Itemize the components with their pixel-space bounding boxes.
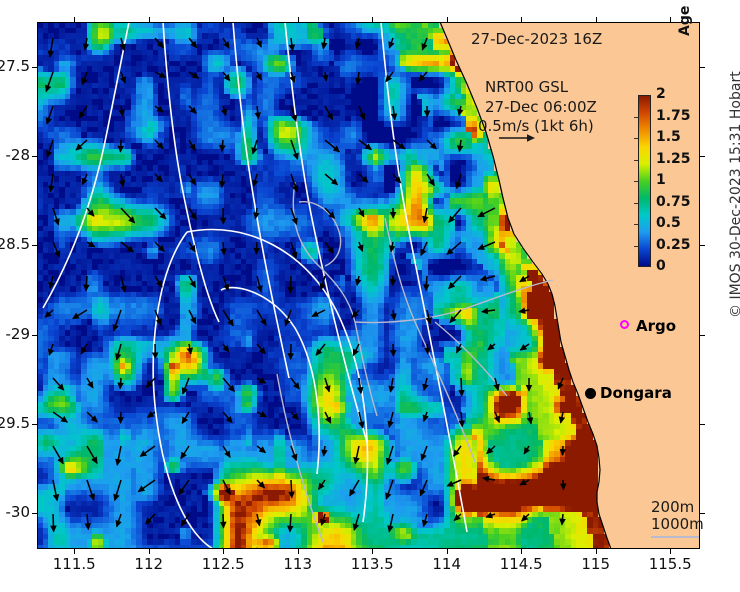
x-tick-top — [149, 17, 150, 22]
current-vector — [559, 548, 563, 549]
x-tick-label: 113 — [258, 555, 338, 573]
x-tick-top — [74, 17, 75, 22]
current-vector — [325, 548, 327, 549]
current-vector — [325, 140, 339, 152]
colorbar-tick — [634, 224, 638, 225]
current-vector — [393, 310, 394, 320]
y-tick-right — [700, 245, 705, 246]
x-tick-top — [223, 17, 224, 22]
current-vector — [222, 140, 223, 151]
product-line-1: NRT00 GSL — [485, 78, 568, 96]
y-tick-right — [700, 156, 705, 157]
current-vector — [121, 242, 134, 252]
current-vector — [121, 106, 123, 116]
current-vector — [257, 38, 261, 47]
argo-label: Argo — [636, 317, 676, 335]
current-vector — [426, 276, 427, 290]
x-tick — [372, 549, 373, 554]
current-vector — [420, 480, 427, 496]
current-vector — [121, 208, 135, 223]
current-vector — [520, 344, 529, 350]
current-vector — [389, 412, 393, 427]
current-vector — [352, 310, 359, 317]
current-vector — [524, 446, 529, 454]
current-vector — [120, 412, 121, 423]
current-vector — [359, 106, 364, 120]
current-vector — [290, 276, 291, 293]
current-vector — [487, 446, 495, 454]
x-tick-label: 112 — [109, 555, 189, 573]
current-vector — [257, 344, 265, 354]
colorbar-tick — [634, 181, 638, 182]
y-tick-label: -28 — [0, 146, 30, 164]
current-vector — [117, 548, 121, 549]
bathymetry-contour — [355, 280, 553, 322]
current-vector — [391, 378, 394, 392]
current-vector — [257, 412, 266, 417]
current-vector — [427, 140, 436, 149]
bathymetry-contour — [43, 22, 129, 308]
argo-marker-icon — [620, 320, 629, 329]
current-vector — [140, 446, 155, 456]
current-vector — [257, 310, 266, 325]
current-vector — [223, 412, 232, 423]
current-vector — [325, 208, 335, 218]
current-vector — [488, 344, 495, 350]
current-vector — [181, 446, 189, 459]
colorbar-tick-label: 2 — [656, 86, 666, 102]
y-tick — [32, 245, 37, 246]
map-overlays — [37, 22, 700, 549]
y-tick — [32, 156, 37, 157]
credit-text: © IMOS 30-Dec-2023 15:31 Hobart — [728, 38, 740, 318]
current-vector — [563, 446, 564, 455]
colorbar-tick — [634, 203, 638, 204]
current-vector — [184, 548, 190, 549]
current-vector — [529, 412, 531, 424]
current-vector — [223, 378, 234, 391]
current-vector — [117, 514, 121, 527]
current-vector — [87, 514, 88, 529]
current-vector — [291, 378, 299, 389]
current-vector — [120, 140, 121, 152]
current-vector — [325, 412, 331, 423]
x-tick — [74, 549, 75, 554]
current-vector — [359, 140, 371, 150]
current-vector — [223, 480, 230, 494]
product-line-2: 27-Dec 06:00Z — [485, 98, 597, 116]
current-vector — [85, 38, 87, 50]
current-vector — [189, 72, 199, 78]
current-vector — [183, 378, 189, 394]
current-vector — [353, 344, 359, 355]
current-vector — [155, 276, 162, 287]
current-vector — [324, 446, 325, 456]
current-vector — [87, 412, 97, 422]
y-tick-label: -30 — [0, 503, 30, 521]
current-vector — [76, 140, 87, 150]
current-vector — [355, 446, 359, 464]
current-vector — [481, 276, 495, 280]
current-vector — [223, 242, 224, 255]
current-vector — [121, 72, 125, 83]
current-vector — [454, 514, 461, 521]
current-vector — [257, 106, 258, 119]
current-vector — [254, 174, 257, 186]
current-vector — [155, 174, 162, 182]
dongara-label: Dongara — [600, 384, 672, 402]
x-tick-label: 111.5 — [34, 555, 114, 573]
dongara-marker-icon — [585, 388, 596, 399]
current-vector — [121, 174, 123, 187]
bathymetry-contour — [293, 182, 377, 416]
x-tick — [298, 549, 299, 554]
current-vector — [216, 548, 223, 549]
current-vector — [323, 38, 325, 49]
x-tick-label: 114 — [407, 555, 487, 573]
current-vector — [359, 412, 363, 428]
velocity-reference-arrow — [497, 131, 537, 145]
current-vector — [117, 446, 121, 465]
x-tick — [149, 549, 150, 554]
current-vector — [478, 208, 495, 217]
colorbar-tick-label: 1 — [656, 172, 666, 188]
current-vector — [350, 480, 359, 496]
y-tick-right — [700, 424, 705, 425]
current-vector — [483, 478, 495, 480]
depth-label-200m: 200m — [651, 498, 694, 516]
x-tick-label: 112.5 — [183, 555, 263, 573]
bathymetry-contour — [163, 22, 219, 322]
current-vector — [447, 242, 461, 254]
current-vector — [46, 72, 53, 91]
current-vector — [359, 242, 362, 251]
current-vector — [49, 344, 53, 355]
current-vector — [257, 72, 261, 80]
current-vector — [86, 276, 87, 291]
bathymetry-contour — [277, 374, 323, 542]
bathymetry-contour — [233, 22, 289, 378]
current-vector — [87, 378, 93, 388]
current-vector — [291, 412, 298, 419]
colorbar-tick-label: 0.25 — [656, 237, 691, 253]
x-tick — [521, 549, 522, 554]
current-vector — [325, 72, 326, 81]
current-vector — [83, 72, 87, 84]
current-vector — [256, 242, 257, 254]
current-vector — [87, 242, 95, 247]
current-vector — [457, 344, 461, 353]
current-vector — [312, 310, 325, 316]
current-vector — [486, 514, 495, 517]
current-vector — [454, 446, 461, 456]
map-plot-area[interactable] — [37, 22, 700, 549]
current-vector — [427, 174, 434, 186]
current-vector — [519, 310, 529, 312]
current-vector — [424, 514, 428, 526]
depth-scale-rule — [651, 536, 699, 538]
current-vector — [155, 38, 163, 48]
current-vector — [50, 276, 53, 288]
y-tick-label: -29.5 — [0, 414, 30, 432]
current-vector — [257, 480, 265, 488]
current-vector — [73, 310, 87, 319]
current-vector — [223, 344, 229, 352]
current-vector — [249, 548, 257, 549]
current-vector — [182, 412, 189, 423]
current-vector — [526, 548, 530, 549]
current-vector — [84, 548, 87, 549]
current-vector — [290, 514, 291, 532]
current-vector — [155, 242, 164, 251]
current-vector — [53, 378, 64, 390]
current-vector — [257, 276, 261, 292]
colorbar-tick-label: 0 — [656, 258, 666, 274]
current-vector — [357, 276, 359, 285]
current-vector — [53, 412, 67, 422]
x-tick-top — [596, 17, 597, 22]
current-vector — [461, 412, 462, 427]
current-vector — [287, 548, 291, 549]
current-vector — [53, 208, 58, 225]
current-vector — [291, 140, 298, 159]
current-vector — [146, 514, 155, 524]
colorbar-tick-label: 1.25 — [656, 151, 691, 167]
colorbar-tick-label: 1.75 — [656, 108, 691, 124]
x-tick-top — [521, 17, 522, 22]
current-vector — [53, 514, 54, 532]
colorbar-tick-label: 1.5 — [656, 129, 681, 145]
current-vector — [325, 242, 333, 253]
colorbar-tick-label: 0.5 — [656, 215, 681, 231]
colorbar-title: Age (days) of filled SST (wrt latest) — [677, 0, 693, 36]
x-tick-label: 113.5 — [332, 555, 412, 573]
current-vector — [223, 310, 233, 326]
colorbar-tick — [634, 138, 638, 139]
current-vector — [189, 174, 196, 185]
current-vector — [47, 106, 53, 124]
y-tick-label: -27.5 — [0, 57, 30, 75]
y-tick — [32, 335, 37, 336]
current-vector — [189, 106, 196, 113]
current-vector — [87, 480, 94, 500]
current-vector — [478, 242, 495, 249]
current-vector — [424, 208, 427, 222]
current-vector — [155, 140, 163, 149]
current-vector — [495, 412, 499, 422]
current-vector — [386, 480, 393, 499]
current-vector — [558, 378, 563, 389]
current-vector — [257, 446, 265, 453]
current-vector — [457, 174, 461, 188]
current-vector — [291, 38, 293, 51]
current-vector — [138, 480, 155, 492]
current-vector — [189, 38, 197, 48]
current-vector — [189, 310, 196, 324]
current-vector — [426, 548, 427, 549]
current-vector — [325, 106, 333, 120]
y-tick — [32, 513, 37, 514]
x-tick-top — [447, 17, 448, 22]
current-vector — [359, 208, 364, 217]
x-tick-label: 115.5 — [630, 555, 710, 573]
current-vector — [189, 344, 191, 354]
current-vector — [482, 310, 495, 312]
current-vector — [50, 174, 53, 192]
y-tick-label: -29 — [0, 325, 30, 343]
current-vector — [520, 480, 529, 485]
colorbar-tick — [634, 160, 638, 161]
current-vector — [424, 412, 427, 421]
y-tick-label: -28.5 — [0, 235, 30, 253]
current-vector — [421, 242, 427, 255]
current-vector — [155, 208, 166, 219]
current-vector — [155, 106, 163, 112]
current-vector — [53, 242, 60, 257]
current-vector — [459, 140, 461, 152]
current-vector — [257, 378, 266, 383]
current-vector — [121, 38, 124, 50]
x-tick-top — [670, 17, 671, 22]
colorbar-tick-label: 0.75 — [656, 194, 691, 210]
bathymetry-contour — [221, 288, 319, 474]
current-vector — [316, 344, 325, 355]
current-vector — [520, 276, 529, 282]
current-vector — [53, 446, 63, 464]
current-vector — [189, 140, 195, 150]
current-vector — [354, 514, 359, 530]
current-vector — [223, 106, 226, 115]
current-vector — [81, 344, 87, 354]
current-vector — [325, 174, 338, 185]
current-vector — [87, 446, 97, 463]
current-vector — [222, 174, 223, 187]
current-vector — [449, 208, 461, 222]
current-vector — [458, 548, 461, 549]
current-vector — [117, 344, 121, 360]
current-vector — [151, 548, 155, 549]
current-vector — [121, 276, 125, 292]
current-vector — [155, 72, 166, 77]
current-vector — [562, 514, 563, 525]
x-tick — [670, 549, 671, 554]
current-vector — [359, 378, 361, 393]
current-vector — [120, 378, 121, 389]
current-vector — [358, 72, 359, 84]
current-vector — [53, 480, 57, 501]
current-vector — [319, 480, 325, 489]
current-vector — [50, 548, 53, 549]
colorbar — [638, 95, 651, 267]
current-vector — [257, 514, 260, 526]
current-vector — [389, 38, 393, 48]
y-tick-right — [700, 67, 705, 68]
current-vector — [422, 446, 428, 460]
current-vector — [522, 514, 529, 521]
x-tick-top — [372, 17, 373, 22]
current-vector — [291, 480, 292, 498]
current-vector — [223, 514, 224, 528]
current-vector — [424, 378, 427, 390]
depth-label-1000m: 1000m — [651, 515, 704, 533]
current-vector — [189, 276, 195, 287]
colorbar-tick — [634, 246, 638, 247]
current-vector — [491, 548, 495, 549]
colorbar-tick — [634, 117, 638, 118]
y-tick-right — [700, 335, 705, 336]
current-vector — [114, 310, 121, 331]
current-vector — [322, 514, 326, 525]
current-vector — [563, 480, 564, 490]
imos-sst-age-map: 27-Dec-2023 16Z NRT00 GSL 27-Dec 06:00Z … — [0, 0, 740, 592]
current-vector — [82, 174, 87, 184]
current-vector — [223, 38, 229, 48]
current-vector — [561, 412, 563, 423]
timestamp-label: 27-Dec-2023 16Z — [471, 30, 602, 48]
current-vector — [325, 378, 329, 392]
current-vector — [419, 72, 427, 81]
current-vector — [461, 378, 462, 396]
current-vector — [422, 38, 427, 50]
current-vector — [47, 140, 53, 157]
x-tick-label: 115 — [556, 555, 636, 573]
current-vector — [393, 106, 395, 120]
y-tick — [32, 424, 37, 425]
x-tick — [447, 549, 448, 554]
current-vector — [459, 106, 461, 115]
y-tick-right — [700, 513, 705, 514]
current-vector — [45, 310, 53, 317]
x-tick-label: 114.5 — [481, 555, 561, 573]
current-vector — [387, 446, 393, 464]
current-vector — [449, 276, 461, 289]
current-vector — [115, 480, 121, 500]
current-vector — [253, 140, 257, 154]
current-vector — [389, 514, 393, 532]
current-vector — [148, 412, 155, 417]
current-vector — [179, 480, 189, 495]
current-vector — [79, 106, 87, 118]
current-vector — [285, 310, 291, 326]
x-tick — [223, 549, 224, 554]
current-vector — [359, 174, 368, 182]
current-vector — [357, 38, 360, 48]
current-vector — [223, 72, 230, 81]
current-vector — [50, 38, 53, 57]
y-tick — [32, 67, 37, 68]
current-vector — [87, 208, 94, 216]
current-vector — [189, 208, 196, 220]
current-vector — [359, 548, 361, 549]
x-tick — [596, 549, 597, 554]
current-vector — [223, 446, 230, 457]
x-tick-top — [298, 17, 299, 22]
current-vector — [427, 344, 428, 354]
